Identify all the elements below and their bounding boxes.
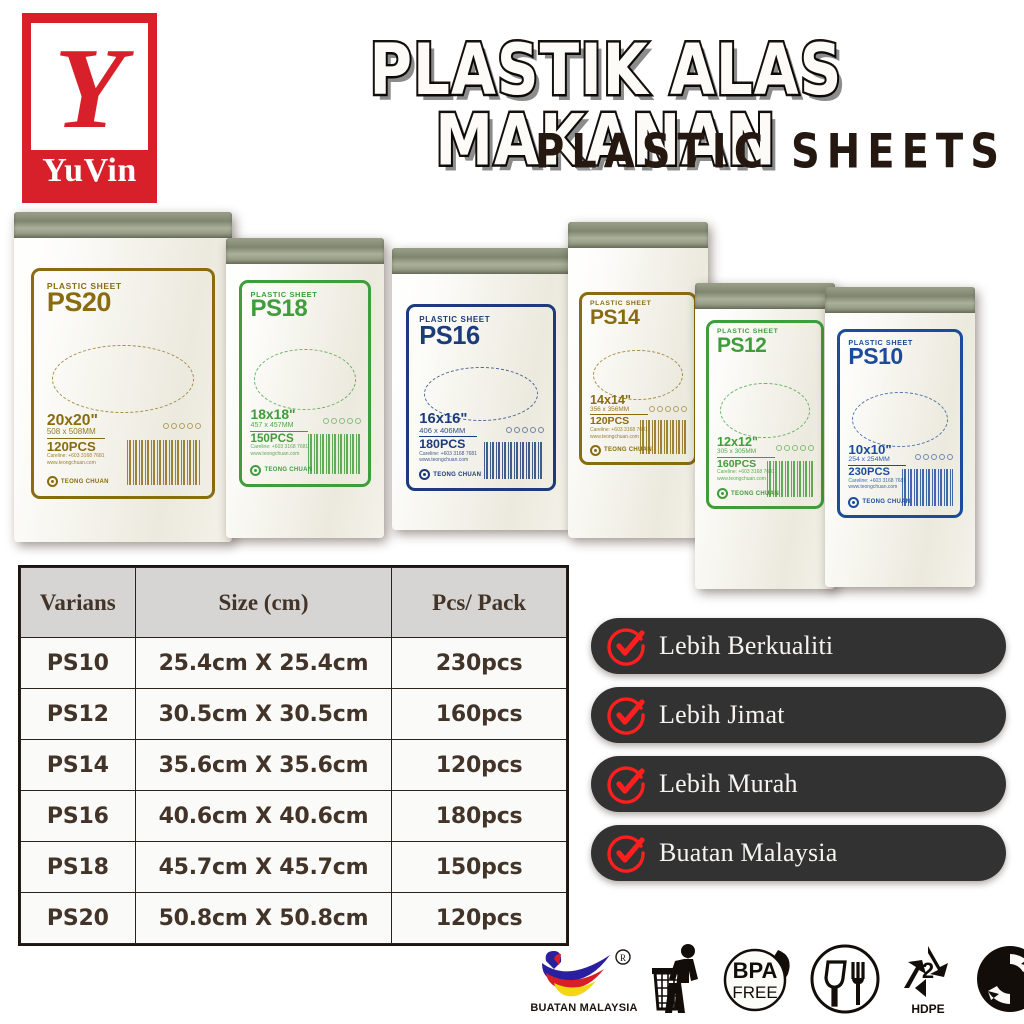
package-seal bbox=[825, 287, 975, 313]
package-website: www.teongchuan.com bbox=[250, 452, 308, 458]
package-barcode bbox=[767, 461, 814, 498]
package-careline: Careline: +603 3168 7681 bbox=[590, 428, 648, 434]
cell-size: 50.8cm X 50.8cm bbox=[135, 893, 392, 944]
table-header-pcs: Pcs/ Pack bbox=[392, 568, 567, 638]
package-inches: 18x18" bbox=[250, 408, 308, 422]
product-package-ps16: PLASTIC SHEET PS16 16x16" 406 x 406MM 18… bbox=[392, 248, 570, 530]
package-label: PLASTIC SHEET PS18 18x18" 457 x 457MM 15… bbox=[239, 280, 372, 487]
cell-pcs: 120pcs bbox=[392, 893, 567, 944]
product-package-ps14: PLASTIC SHEET PS14 14x14" 356 x 356MM 12… bbox=[568, 222, 708, 538]
table-header-row: Varians Size (cm) Pcs/ Pack bbox=[21, 568, 567, 638]
package-mm: 508 x 508MM bbox=[47, 428, 105, 437]
cell-pcs: 120pcs bbox=[392, 740, 567, 791]
package-seal bbox=[695, 283, 835, 309]
package-website: www.teongchuan.com bbox=[590, 435, 648, 441]
recycle-hdpe-icon: 2 HDPE bbox=[892, 942, 964, 1016]
feature-pill: Lebih Murah bbox=[591, 756, 1006, 812]
cell-pcs: 180pcs bbox=[392, 791, 567, 842]
check-circle-icon bbox=[607, 764, 647, 804]
package-website: www.teongchuan.com bbox=[419, 458, 477, 464]
package-seal bbox=[14, 212, 232, 238]
teong-chuan-mark-icon bbox=[419, 469, 430, 480]
table-body: PS1025.4cm X 25.4cm230pcsPS1230.5cm X 30… bbox=[21, 638, 567, 944]
hdpe-label: HDPE bbox=[911, 1002, 944, 1016]
package-mm: 305 x 305MM bbox=[717, 448, 775, 455]
package-footer: 10x10" 254 x 254MM 230PCS Careline: +603… bbox=[848, 443, 906, 491]
package-pcs: 160PCS bbox=[717, 457, 775, 470]
bpa-free-line2: FREE bbox=[732, 983, 777, 1002]
package-inches: 12x12" bbox=[717, 436, 775, 449]
cell-size: 35.6cm X 35.6cm bbox=[135, 740, 392, 791]
food-safe-icon bbox=[808, 942, 882, 1016]
teong-chuan-mark-icon bbox=[848, 497, 859, 508]
package-oval-outline bbox=[720, 383, 809, 438]
package-name: PS20 bbox=[47, 290, 199, 316]
feature-label: Lebih Berkualiti bbox=[659, 631, 833, 661]
logo-plate: Y bbox=[31, 23, 148, 150]
table-row: PS1845.7cm X 45.7cm150pcs bbox=[21, 842, 567, 893]
product-package-ps10: PLASTIC SHEET PS10 10x10" 254 x 254MM 23… bbox=[825, 287, 975, 587]
buatan-malaysia-icon: R BUATAN MALAYSIA bbox=[528, 945, 640, 1014]
package-inches: 10x10" bbox=[848, 443, 906, 456]
package-pcs: 180PCS bbox=[419, 436, 477, 450]
package-pcs: 230PCS bbox=[848, 465, 906, 478]
package-symbol-row bbox=[163, 423, 201, 429]
product-package-ps20: PLASTIC SHEET PS20 20x20" 508 x 508MM 12… bbox=[14, 212, 232, 542]
product-package-ps12: PLASTIC SHEET PS12 12x12" 305 x 305MM 16… bbox=[695, 283, 835, 589]
feature-pill: Lebih Berkualiti bbox=[591, 618, 1006, 674]
cell-size: 25.4cm X 25.4cm bbox=[135, 638, 392, 689]
logo-wordmark: YuVin bbox=[42, 154, 137, 188]
package-brand: TEONG CHUAN bbox=[47, 476, 109, 487]
cell-variant: PS10 bbox=[21, 638, 136, 689]
cell-size: 30.5cm X 30.5cm bbox=[135, 689, 392, 740]
teong-chuan-mark-icon bbox=[250, 465, 261, 476]
package-symbol-row bbox=[506, 427, 544, 433]
table-header-size: Size (cm) bbox=[135, 568, 392, 638]
cell-size: 40.6cm X 40.6cm bbox=[135, 791, 392, 842]
package-oval-outline bbox=[254, 349, 355, 409]
page-subtitle: PLASTIC SHEETS bbox=[535, 125, 1006, 179]
package-seal bbox=[226, 238, 384, 264]
package-footer: 20x20" 508 x 508MM 120PCS Careline: +603… bbox=[47, 413, 105, 467]
feature-label: Buatan Malaysia bbox=[659, 838, 837, 868]
table-header-varians: Varians bbox=[21, 568, 136, 638]
green-dot-icon bbox=[974, 943, 1024, 1015]
poster-canvas: Y YuVin PLASTIK ALAS MAKANAN PLASTIC SHE… bbox=[0, 0, 1024, 1024]
package-barcode bbox=[308, 434, 361, 474]
cell-variant: PS12 bbox=[21, 689, 136, 740]
package-seal bbox=[568, 222, 708, 248]
feature-pill: Buatan Malaysia bbox=[591, 825, 1006, 881]
feature-label: Lebih Murah bbox=[659, 769, 798, 799]
cell-size: 45.7cm X 45.7cm bbox=[135, 842, 392, 893]
package-symbol-row bbox=[776, 445, 814, 451]
cell-variant: PS16 bbox=[21, 791, 136, 842]
package-website: www.teongchuan.com bbox=[848, 485, 906, 491]
package-mm: 254 x 254MM bbox=[848, 456, 906, 464]
teong-chuan-mark-icon bbox=[717, 488, 728, 499]
package-name: PS12 bbox=[717, 336, 813, 356]
cell-variant: PS20 bbox=[21, 893, 136, 944]
package-symbol-row bbox=[915, 454, 953, 460]
package-label: PLASTIC SHEET PS10 10x10" 254 x 254MM 23… bbox=[837, 329, 963, 518]
package-oval-outline bbox=[52, 345, 194, 413]
package-pcs: 120PCS bbox=[590, 414, 648, 427]
package-name: PS14 bbox=[590, 308, 686, 328]
package-footer: 16x16" 406 x 406MM 180PCS Careline: +603… bbox=[419, 412, 477, 464]
package-oval-outline bbox=[852, 392, 948, 447]
package-website: www.teongchuan.com bbox=[47, 461, 105, 467]
package-barcode bbox=[640, 420, 687, 454]
check-circle-icon bbox=[607, 833, 647, 873]
logo-letter-y: Y bbox=[54, 44, 125, 134]
feature-list: Lebih Berkualiti Lebih Jimat Lebih Murah… bbox=[591, 618, 1006, 881]
table-row: PS2050.8cm X 50.8cm120pcs bbox=[21, 893, 567, 944]
bpa-free-icon: BPA FREE bbox=[722, 942, 798, 1016]
cell-pcs: 160pcs bbox=[392, 689, 567, 740]
package-brand: TEONG CHUAN bbox=[250, 465, 312, 476]
package-careline: Careline: +603 3168 7681 bbox=[717, 470, 775, 476]
package-symbol-row bbox=[649, 406, 687, 412]
svg-text:R: R bbox=[620, 953, 626, 963]
feature-label: Lebih Jimat bbox=[659, 700, 785, 730]
recycle-number: 2 bbox=[922, 958, 934, 983]
package-website: www.teongchuan.com bbox=[717, 477, 775, 483]
brand-logo: Y YuVin bbox=[22, 13, 157, 203]
package-label: PLASTIC SHEET PS20 20x20" 508 x 508MM 12… bbox=[31, 268, 214, 499]
package-brand-name: TEONG CHUAN bbox=[61, 479, 109, 485]
package-footer: 12x12" 305 x 305MM 160PCS Careline: +603… bbox=[717, 436, 775, 483]
teong-chuan-mark-icon bbox=[590, 445, 601, 456]
certification-row: R BUATAN MALAYSIA BPA FREE bbox=[528, 938, 1020, 1020]
cell-pcs: 150pcs bbox=[392, 842, 567, 893]
package-seal bbox=[392, 248, 570, 274]
spec-table: Varians Size (cm) Pcs/ Pack PS1025.4cm X… bbox=[18, 565, 569, 946]
check-circle-icon bbox=[607, 626, 647, 666]
package-symbol-row bbox=[323, 418, 361, 424]
package-label: PLASTIC SHEET PS14 14x14" 356 x 356MM 12… bbox=[579, 292, 697, 466]
cell-pcs: 230pcs bbox=[392, 638, 567, 689]
package-footer: 14x14" 356 x 356MM 120PCS Careline: +603… bbox=[590, 394, 648, 441]
check-circle-icon bbox=[607, 695, 647, 735]
package-footer: 18x18" 457 x 457MM 150PCS Careline: +603… bbox=[250, 408, 308, 458]
package-mm: 356 x 356MM bbox=[590, 406, 648, 413]
package-brand: TEONG CHUAN bbox=[848, 497, 910, 508]
package-name: PS16 bbox=[419, 324, 542, 348]
table-row: PS1640.6cm X 40.6cm180pcs bbox=[21, 791, 567, 842]
cell-variant: PS18 bbox=[21, 842, 136, 893]
cell-variant: PS14 bbox=[21, 740, 136, 791]
table-row: PS1230.5cm X 30.5cm160pcs bbox=[21, 689, 567, 740]
package-inches: 14x14" bbox=[590, 394, 648, 407]
package-inches: 20x20" bbox=[47, 413, 105, 429]
package-brand-name: TEONG CHUAN bbox=[433, 472, 481, 478]
product-package-ps18: PLASTIC SHEET PS18 18x18" 457 x 457MM 15… bbox=[226, 238, 384, 538]
package-mm: 406 x 406MM bbox=[419, 427, 477, 435]
package-barcode bbox=[484, 442, 544, 478]
tidyman-icon bbox=[650, 942, 712, 1016]
buatan-malaysia-label: BUATAN MALAYSIA bbox=[530, 1002, 637, 1014]
package-pcs: 150PCS bbox=[250, 431, 308, 445]
package-inches: 16x16" bbox=[419, 412, 477, 427]
bpa-free-line1: BPA bbox=[733, 958, 778, 983]
table-row: PS1025.4cm X 25.4cm230pcs bbox=[21, 638, 567, 689]
feature-pill: Lebih Jimat bbox=[591, 687, 1006, 743]
package-label: PLASTIC SHEET PS16 16x16" 406 x 406MM 18… bbox=[406, 304, 556, 490]
package-barcode bbox=[127, 440, 201, 485]
teong-chuan-mark-icon bbox=[47, 476, 58, 487]
package-mm: 457 x 457MM bbox=[250, 422, 308, 430]
package-barcode bbox=[902, 469, 952, 506]
package-brand-name: TEONG CHUAN bbox=[264, 467, 312, 473]
package-name: PS10 bbox=[848, 346, 951, 368]
package-label: PLASTIC SHEET PS12 12x12" 305 x 305MM 16… bbox=[706, 320, 824, 510]
table-row: PS1435.6cm X 35.6cm120pcs bbox=[21, 740, 567, 791]
package-pcs: 120PCS bbox=[47, 438, 105, 453]
package-brand: TEONG CHUAN bbox=[419, 469, 481, 480]
package-name: PS18 bbox=[250, 298, 359, 321]
